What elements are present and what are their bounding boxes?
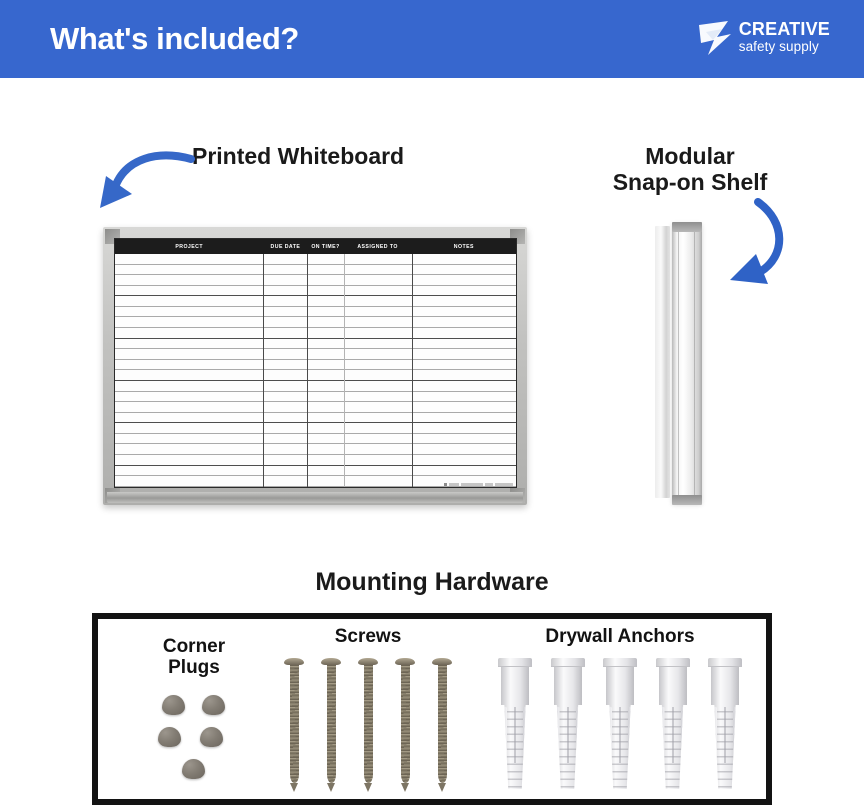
shelf-groove — [694, 230, 695, 495]
shelf-front-rail — [672, 222, 702, 503]
anchor-wing-right — [628, 705, 635, 771]
screw-head — [321, 658, 341, 665]
whiteboard-row — [115, 328, 516, 339]
whiteboard-column-header: NOTES — [412, 244, 516, 250]
shelf-back-rail — [655, 226, 670, 498]
anchor-neck — [554, 667, 582, 705]
anchor-body — [659, 705, 687, 789]
screw — [321, 658, 341, 792]
whiteboard-row — [115, 455, 516, 466]
anchor-wing-right — [576, 705, 583, 771]
whiteboard-row — [115, 423, 516, 434]
screw-shaft — [401, 665, 410, 783]
anchor-neck — [501, 667, 529, 705]
screw — [432, 658, 452, 792]
whiteboard-column-header: PROJECT — [115, 244, 263, 250]
anchor-wing-right — [733, 705, 740, 771]
anchor-slot — [514, 707, 516, 763]
drywall-anchor — [654, 658, 692, 789]
anchor-wing-right — [523, 705, 530, 771]
anchor-body — [501, 705, 529, 789]
anchor-wing-left — [710, 705, 717, 771]
whiteboard-row — [115, 370, 516, 381]
shelf-section-label: Modular Snap-on Shelf — [592, 144, 788, 196]
screw-tip — [290, 783, 298, 792]
whiteboard-row — [115, 392, 516, 403]
whiteboard-row — [115, 413, 516, 424]
footer-text-line — [461, 483, 483, 486]
whiteboard-row — [115, 434, 516, 445]
screw-head — [358, 658, 378, 665]
corner-plugs-title: Corner Plugs — [138, 637, 250, 679]
whiteboard-column-header: DUE DATE — [263, 244, 307, 250]
whiteboard-surface: PROJECTDUE DATEON TIME?ASSIGNED TONOTES — [114, 238, 517, 488]
corner-plug — [202, 695, 225, 715]
whiteboard-row — [115, 339, 516, 350]
whiteboard-row — [115, 296, 516, 307]
whiteboard-row — [115, 265, 516, 276]
page-header: What's included? CREATIVE safety supply — [0, 0, 864, 78]
anchor-neck — [659, 667, 687, 705]
whiteboard-column-header: ON TIME? — [307, 244, 343, 250]
corner-plug — [158, 727, 181, 747]
drywall-anchors-field — [496, 658, 744, 791]
shelf-groove — [678, 230, 679, 495]
logo-brand-name: CREATIVE — [739, 20, 830, 38]
brand-logo: CREATIVE safety supply — [698, 18, 830, 56]
logo-text: CREATIVE safety supply — [739, 20, 830, 54]
curved-arrow-down-left-icon — [716, 198, 796, 294]
drywall-anchor — [549, 658, 587, 789]
screw-head — [395, 658, 415, 665]
anchor-wing-left — [500, 705, 507, 771]
shelf-label-line1: Modular — [645, 143, 734, 169]
whiteboard-row — [115, 381, 516, 392]
anchor-collar — [656, 658, 690, 667]
drywall-anchors-title: Drywall Anchors — [496, 627, 744, 648]
screw — [358, 658, 378, 792]
footer-text-line — [495, 483, 513, 486]
whiteboard-grid — [115, 254, 516, 487]
hardware-group-corner-plugs: Corner Plugs — [138, 637, 250, 783]
anchor-wing-left — [658, 705, 665, 771]
anchor-neck — [606, 667, 634, 705]
drywall-anchor — [496, 658, 534, 789]
hardware-group-drywall-anchors: Drywall Anchors — [496, 627, 744, 791]
screw-shaft — [290, 665, 299, 783]
anchor-collar — [551, 658, 585, 667]
whiteboard-row — [115, 275, 516, 286]
corner-plugs-title-line2: Plugs — [168, 657, 220, 678]
whiteboard-row — [115, 307, 516, 318]
footer-text-line — [449, 483, 459, 486]
screw-head — [432, 658, 452, 665]
curved-arrow-down-left-icon — [96, 146, 196, 218]
whiteboard-column-divider — [263, 254, 264, 487]
anchor-slot — [724, 707, 726, 763]
drywall-anchor — [706, 658, 744, 789]
corner-plug — [162, 695, 185, 715]
screw-shaft — [438, 665, 447, 783]
whiteboard-row — [115, 317, 516, 328]
mounting-hardware-box: Corner Plugs Screws Drywall Anchors — [92, 613, 772, 805]
footer-text-line — [485, 483, 493, 486]
logo-tagline: safety supply — [739, 40, 830, 54]
whiteboard-column-divider — [344, 254, 345, 487]
marker-tray — [107, 492, 523, 503]
corner-plugs-title-line1: Corner — [163, 636, 225, 657]
corner-plug — [200, 727, 223, 747]
anchor-slot — [567, 707, 569, 763]
shelf-end-cap-bottom — [672, 495, 702, 505]
hardware-group-screws: Screws — [284, 627, 452, 791]
whiteboard-column-divider — [412, 254, 413, 487]
anchor-slot — [619, 707, 621, 763]
screws-field — [284, 658, 452, 791]
screw-shaft — [364, 665, 373, 783]
anchor-body — [711, 705, 739, 789]
screw-tip — [401, 783, 409, 792]
whiteboard-footer-microprint — [444, 483, 513, 486]
screw-tip — [438, 783, 446, 792]
shelf-end-cap-top — [672, 222, 702, 232]
whiteboard-column-header-bar: PROJECTDUE DATEON TIME?ASSIGNED TONOTES — [115, 239, 516, 254]
anchor-collar — [708, 658, 742, 667]
anchor-body — [606, 705, 634, 789]
whiteboard-row — [115, 360, 516, 371]
footer-logo-dot — [444, 483, 447, 486]
corner-plug — [182, 759, 205, 779]
anchor-slot — [672, 707, 674, 763]
screw-shaft — [327, 665, 336, 783]
whiteboard-column-divider — [307, 254, 308, 487]
whiteboard-section-label: Printed Whiteboard — [192, 144, 404, 170]
whiteboard-row — [115, 349, 516, 360]
screw-tip — [364, 783, 372, 792]
modular-snap-on-shelf — [655, 222, 721, 505]
creative-safety-supply-arrow-logo — [698, 18, 732, 56]
anchor-neck — [711, 667, 739, 705]
drywall-anchor — [601, 658, 639, 789]
shelf-label-line2: Snap-on Shelf — [613, 169, 768, 195]
printed-whiteboard: PROJECTDUE DATEON TIME?ASSIGNED TONOTES — [103, 227, 527, 505]
screw-head — [284, 658, 304, 665]
screw-tip — [327, 783, 335, 792]
whiteboard-row — [115, 286, 516, 297]
anchor-wing-left — [553, 705, 560, 771]
anchor-wing-left — [605, 705, 612, 771]
anchor-wing-right — [681, 705, 688, 771]
anchor-body — [554, 705, 582, 789]
whiteboard-column-header: ASSIGNED TO — [344, 244, 412, 250]
screw — [395, 658, 415, 792]
whiteboard-row — [115, 444, 516, 455]
anchor-collar — [603, 658, 637, 667]
screws-title: Screws — [284, 627, 452, 648]
page-title: What's included? — [50, 21, 299, 57]
whiteboard-row — [115, 402, 516, 413]
corner-plugs-field — [138, 691, 250, 783]
hardware-section-title: Mounting Hardware — [0, 568, 864, 596]
anchor-collar — [498, 658, 532, 667]
whiteboard-row — [115, 254, 516, 265]
whiteboard-row — [115, 466, 516, 477]
screw — [284, 658, 304, 792]
